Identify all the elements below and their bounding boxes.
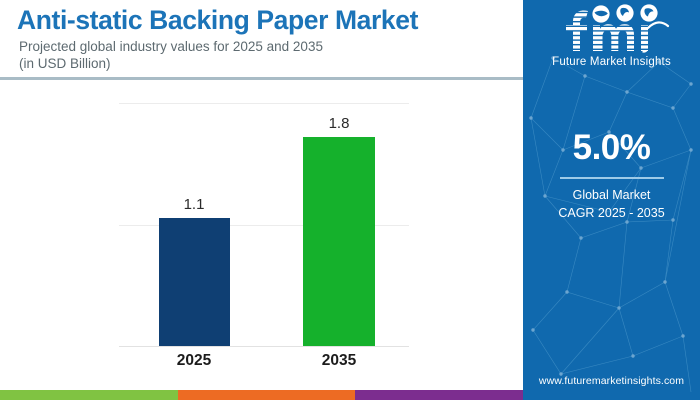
category-label-2025: 2025 xyxy=(144,352,244,370)
page-subtitle: Projected global industry values for 202… xyxy=(19,38,499,72)
footer-color-stripe xyxy=(0,390,523,400)
axis-baseline xyxy=(119,346,409,347)
bar-value-2025: 1.1 xyxy=(154,196,234,213)
cagr-value: 5.0% xyxy=(523,128,700,168)
cagr-divider xyxy=(560,177,664,179)
website-url[interactable]: www.futuremarketinsights.com xyxy=(523,375,700,387)
brand-panel: Future Market Insights 5.0% Global Marke… xyxy=(523,0,700,400)
infographic-root: Anti-static Backing Paper Market Project… xyxy=(0,0,700,400)
stripe-segment-orange xyxy=(178,390,355,400)
bar-value-2035: 1.8 xyxy=(299,115,379,132)
stripe-segment-purple xyxy=(355,390,523,400)
page-title: Anti-static Backing Paper Market xyxy=(17,5,517,35)
bar-2025[interactable] xyxy=(159,218,230,346)
subtitle-line-2: (in USD Billion) xyxy=(19,55,499,72)
main-content-area: Anti-static Backing Paper Market Project… xyxy=(0,0,523,400)
cagr-caption-line-1: Global Market xyxy=(523,188,700,202)
gridline-upper xyxy=(119,103,409,104)
bar-chart: 1.1 1.8 2025 2035 xyxy=(0,80,523,380)
fmi-logo-caption: Future Market Insights xyxy=(523,56,700,68)
cagr-caption-line-2: CAGR 2025 - 2035 xyxy=(523,206,700,220)
stripe-segment-green xyxy=(0,390,178,400)
header: Anti-static Backing Paper Market Project… xyxy=(0,0,523,78)
fmi-wordmark-icon xyxy=(551,4,673,54)
category-label-2035: 2035 xyxy=(289,352,389,370)
bar-2035[interactable] xyxy=(303,137,375,346)
cagr-callout: 5.0% Global Market CAGR 2025 - 2035 xyxy=(523,128,700,220)
fmi-logo[interactable]: Future Market Insights xyxy=(523,4,700,76)
subtitle-line-1: Projected global industry values for 202… xyxy=(19,38,499,55)
